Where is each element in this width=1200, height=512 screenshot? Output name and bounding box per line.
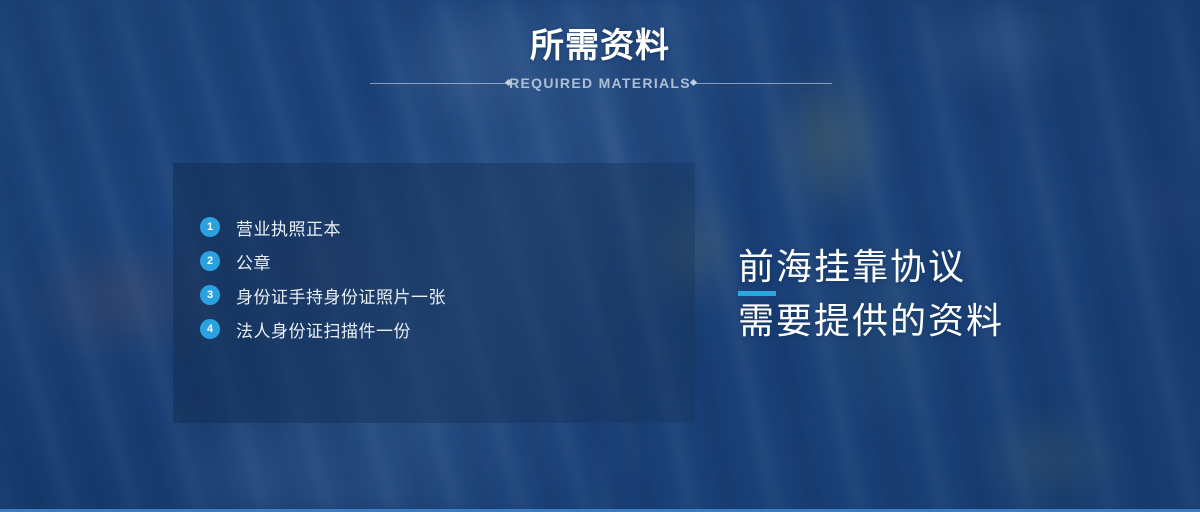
list-item-label: 公章	[236, 249, 271, 274]
list-item-label: 身份证手持身份证照片一张	[236, 283, 446, 308]
right-heading: 前海挂靠协议 需要提供的资料	[738, 245, 1158, 343]
right-heading-line-1: 前海挂靠协议	[738, 245, 1158, 289]
list-item-label: 法人身份证扫描件一份	[236, 317, 411, 342]
list-number-badge: 3	[200, 285, 220, 305]
subtitle-row: REQUIRED MATERIALS	[0, 72, 1200, 94]
banner-header: 所需资料 REQUIRED MATERIALS	[0, 26, 1200, 94]
list-item: 2 公章	[200, 244, 446, 278]
list-item: 4 法人身份证扫描件一份	[200, 312, 446, 346]
list-number-badge: 1	[200, 217, 220, 237]
materials-list: 1 营业执照正本 2 公章 3 身份证手持身份证照片一张 4 法人身份证扫描件一…	[200, 210, 446, 346]
right-heading-line-2: 需要提供的资料	[738, 299, 1158, 343]
list-item: 3 身份证手持身份证照片一张	[200, 278, 446, 312]
decorative-line-left	[370, 83, 508, 84]
heading-accent-bar	[738, 291, 776, 296]
materials-panel: 1 营业执照正本 2 公章 3 身份证手持身份证照片一张 4 法人身份证扫描件一…	[173, 163, 695, 423]
list-number-badge: 2	[200, 251, 220, 271]
page-title: 所需资料	[0, 26, 1200, 66]
list-item-label: 营业执照正本	[236, 215, 341, 240]
required-materials-banner: 所需资料 REQUIRED MATERIALS 1 营业执照正本 2 公章 3 …	[0, 0, 1200, 512]
list-number-badge: 4	[200, 319, 220, 339]
page-subtitle: REQUIRED MATERIALS	[509, 75, 691, 91]
list-item: 1 营业执照正本	[200, 210, 446, 244]
decorative-line-right	[694, 83, 832, 84]
